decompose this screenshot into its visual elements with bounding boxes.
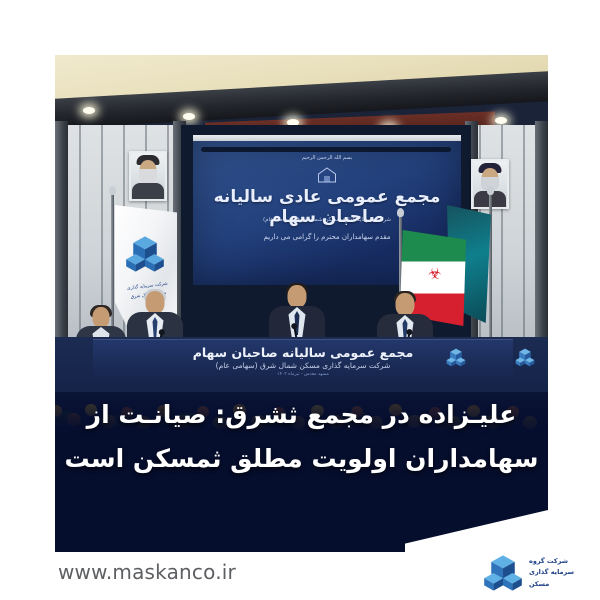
- table-banner-logo-left: [515, 348, 535, 367]
- brand-line-2: سرمایه گذاری: [529, 567, 574, 578]
- robe: [132, 183, 164, 199]
- flag-pole-knob: [487, 186, 494, 195]
- portrait-khomeini: [129, 151, 167, 201]
- head: [288, 285, 307, 308]
- headline-line-2: سهامداران اولویت مطلق ثمسکن است: [55, 444, 548, 473]
- wall-post: [535, 121, 548, 343]
- banner-bismillah: بسم الله الرحمن الرحیم: [193, 155, 461, 161]
- brand-lockup: شرکت گروه سرمایه گذاری مسکن: [483, 554, 574, 592]
- ceiling-spotlight: [495, 117, 507, 124]
- ceiling-spotlight: [183, 113, 195, 120]
- flag-pole-knob: [109, 186, 116, 195]
- wall-panel-seam: [523, 125, 525, 340]
- headline-line-1: علیـزاده در مجمع ثشرق: صیانـت از: [55, 400, 548, 429]
- iran-emblem: ☣: [425, 267, 442, 282]
- headline-overlay: علیـزاده در مجمع ثشرق: صیانـت از سهامدار…: [55, 392, 548, 510]
- maskan-cubes-logo: [483, 554, 523, 592]
- flag-pole-knob: [397, 208, 404, 217]
- ceiling-spotlight: [83, 107, 95, 114]
- table-banner-date: مشهد مقدس - تیرماه ۱۴۰۳: [93, 372, 513, 377]
- projector-bar: [201, 147, 451, 152]
- table-banner-subtitle: شرکت سرمایه گذاری مسکن شمال شرق (سهامی ع…: [93, 361, 513, 370]
- navy-band-diagonal: [55, 510, 548, 554]
- footer: www.maskanco.ir شرکت گروه سرمایه گذاری م…: [0, 552, 600, 600]
- head: [93, 307, 110, 328]
- beard: [139, 169, 157, 184]
- head: [396, 293, 415, 316]
- banner-subtitle: شرکت سرمایه گذاری مسکن شمال شرق (سهامی ع…: [193, 217, 461, 223]
- brand-text: شرکت گروه سرمایه گذاری مسکن: [529, 556, 574, 590]
- wall-panel-seam: [501, 125, 503, 340]
- company-flag-logo: [125, 235, 165, 273]
- news-card: بسم الله الرحمن الرحیم مجمع عمومی عادی س…: [0, 0, 600, 600]
- house-icon: [193, 167, 461, 183]
- table-banner-title: مجمع عمومی سالیانه صاحبان سهام: [93, 345, 513, 360]
- brand-line-3: مسکن: [529, 579, 574, 590]
- table-banner: مجمع عمومی سالیانه صاحبان سهام شرکت سرما…: [93, 339, 513, 383]
- wall-post: [55, 121, 68, 343]
- website-url[interactable]: www.maskanco.ir: [58, 560, 236, 584]
- head: [146, 291, 165, 314]
- brand-line-1: شرکت گروه: [529, 556, 574, 567]
